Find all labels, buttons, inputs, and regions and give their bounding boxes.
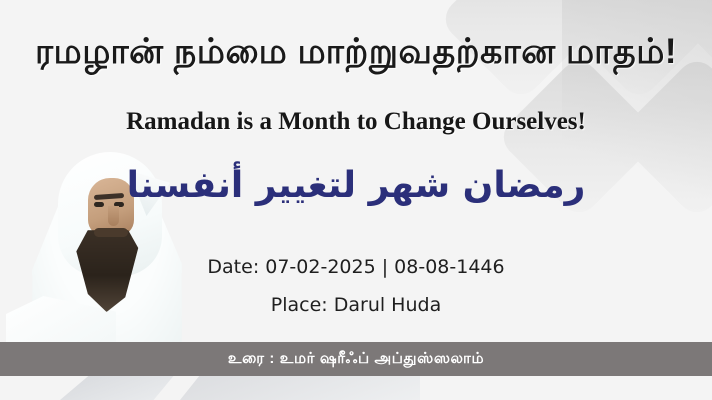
headline-english: Ramadan is a Month to Change Ourselves! bbox=[0, 108, 712, 136]
ramadan-event-poster: ரமழான் நம்மை மாற்றுவதற்கான மாதம்! Ramada… bbox=[0, 0, 712, 400]
speaker-bar: உரை : உமர் ஷரீஃப் அப்துஸ்ஸலாம் bbox=[0, 342, 712, 376]
event-place-line: Place: Darul Huda bbox=[0, 294, 712, 316]
event-date-line: Date: 07-02-2025 | 08-08-1446 bbox=[0, 256, 712, 278]
headline-arabic: رمضان شهر لتغيير أنفسنا bbox=[0, 162, 712, 211]
speaker-name-text: உரை : உமர் ஷரீஃப் அப்துஸ்ஸலாம் bbox=[228, 350, 484, 369]
headline-tamil: ரமழான் நம்மை மாற்றுவதற்கான மாதம்! bbox=[0, 32, 712, 76]
